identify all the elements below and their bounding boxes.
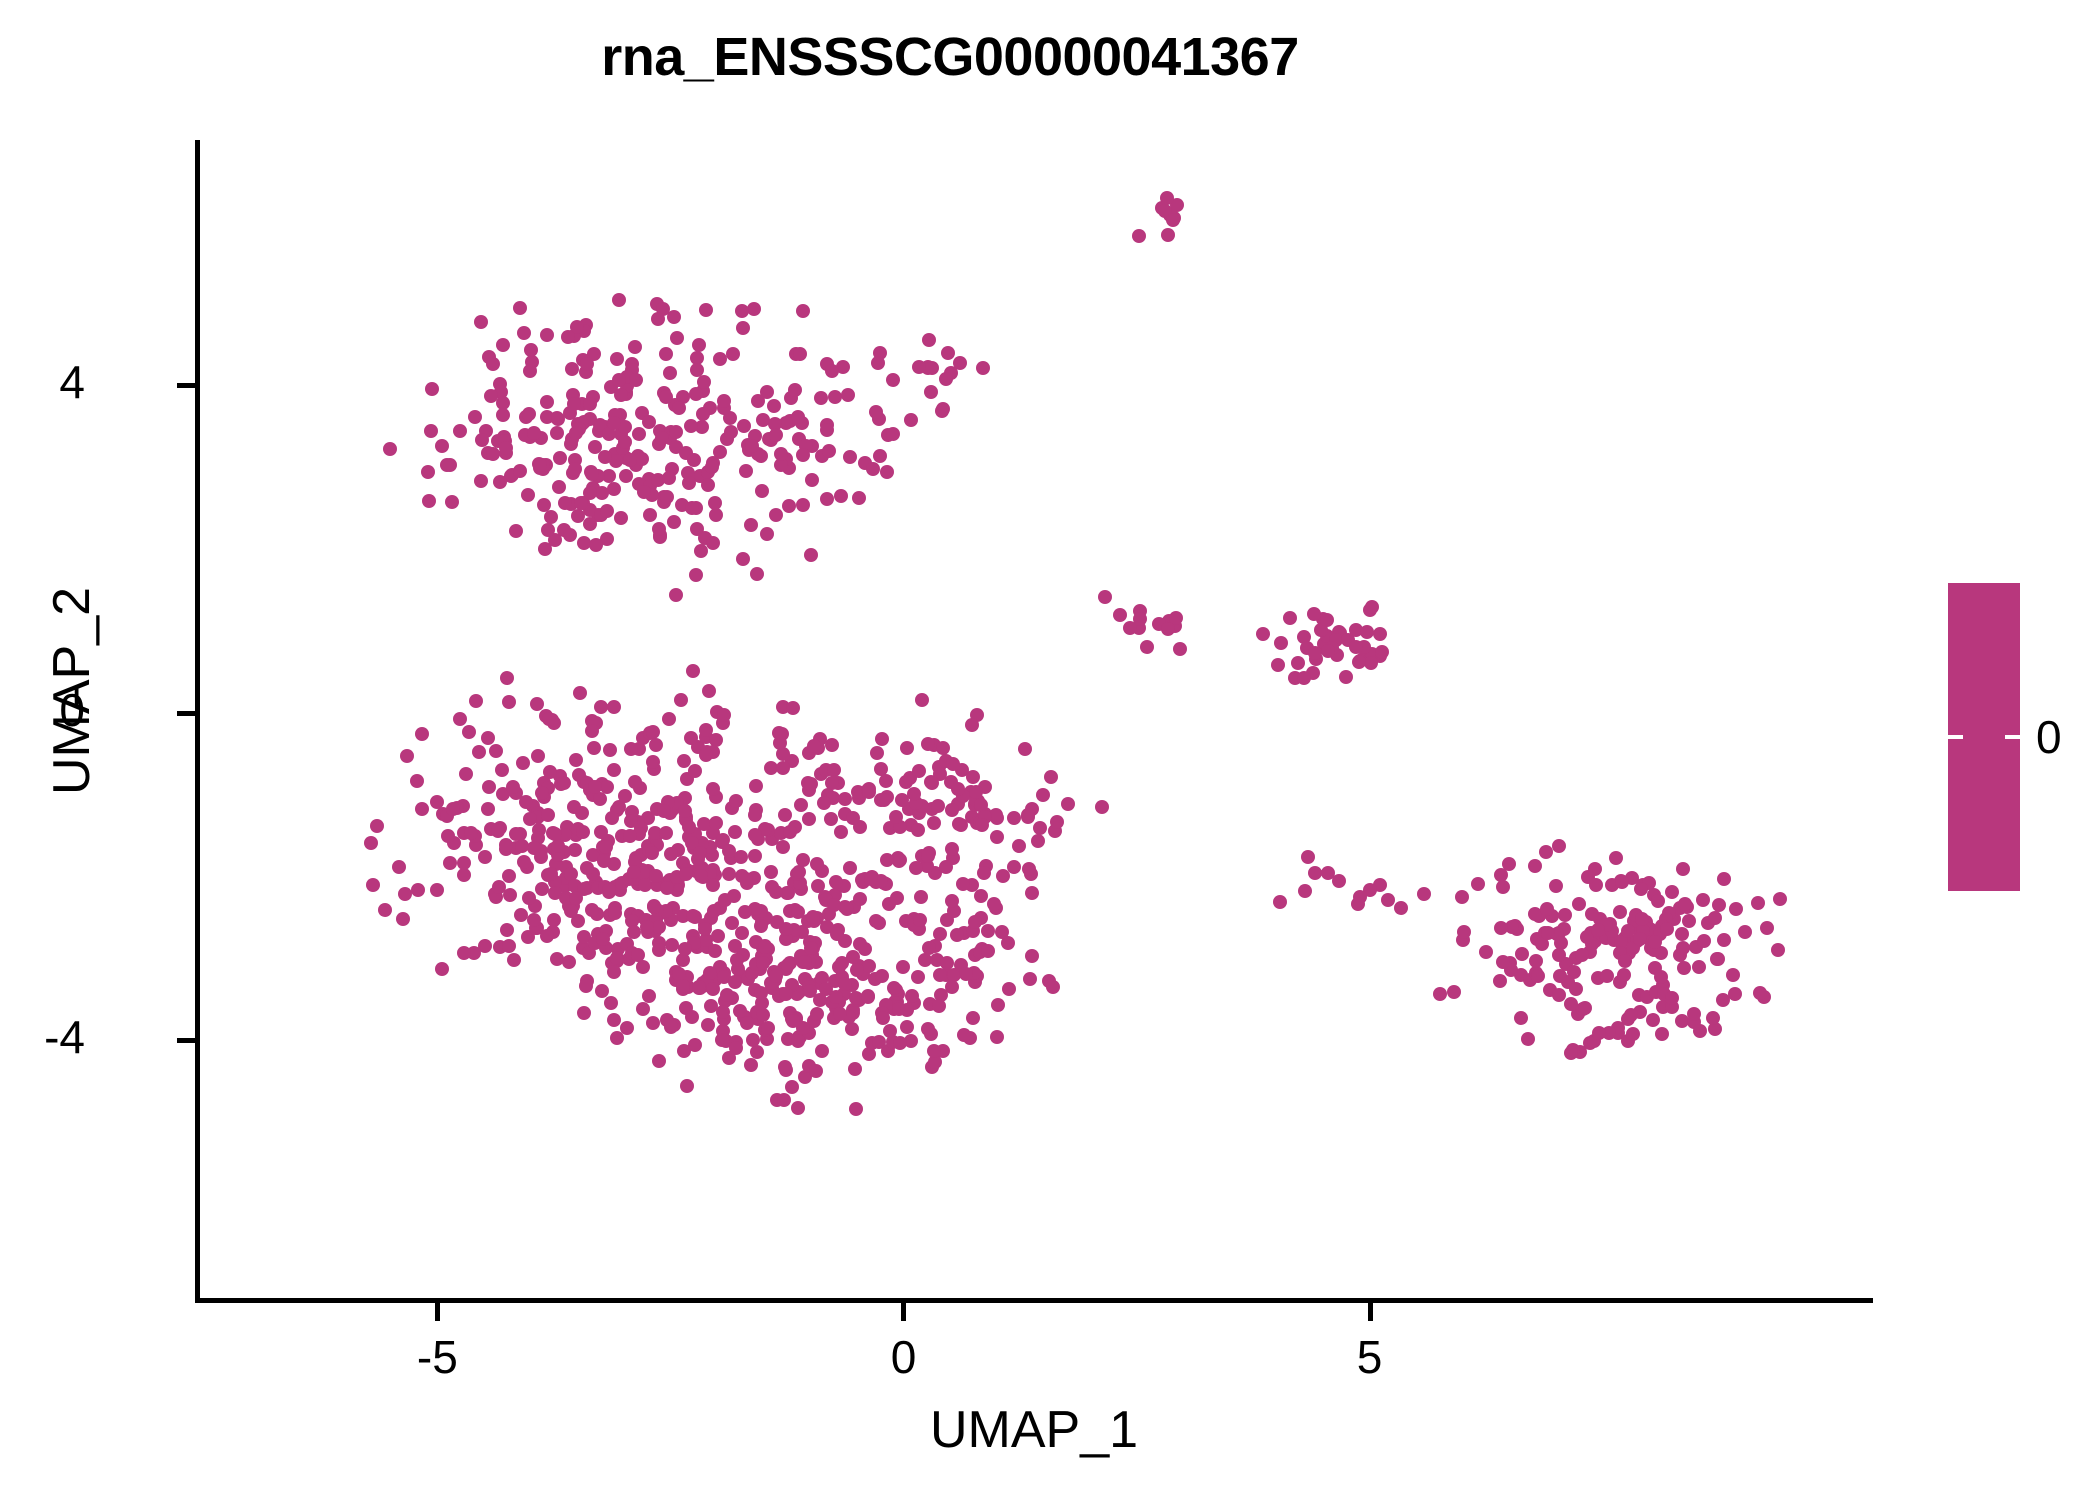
scatter-point bbox=[1291, 656, 1305, 670]
scatter-point bbox=[809, 1064, 823, 1078]
scatter-point bbox=[1479, 945, 1493, 959]
scatter-point bbox=[875, 732, 889, 746]
scatter-point bbox=[701, 478, 715, 492]
scatter-point bbox=[619, 469, 633, 483]
scatter-point bbox=[646, 755, 660, 769]
umap-feature-plot: rna_ENSSSCG00000041367 40-4 -505 UMAP_1 … bbox=[0, 0, 2100, 1500]
scatter-point bbox=[1381, 893, 1395, 907]
scatter-point bbox=[796, 853, 810, 867]
scatter-point bbox=[1036, 788, 1050, 802]
scatter-point bbox=[877, 793, 891, 807]
scatter-point bbox=[820, 492, 834, 506]
scatter-point bbox=[596, 932, 610, 946]
scatter-point bbox=[509, 524, 523, 538]
scatter-point bbox=[833, 1007, 847, 1021]
scatter-point bbox=[659, 826, 673, 840]
scatter-point bbox=[540, 929, 554, 943]
scatter-point bbox=[861, 989, 875, 1003]
scatter-point bbox=[469, 694, 483, 708]
scatter-point bbox=[1012, 839, 1026, 853]
scatter-point bbox=[936, 741, 950, 755]
scatter-point bbox=[733, 1004, 747, 1018]
scatter-point bbox=[684, 419, 698, 433]
scatter-point bbox=[924, 385, 938, 399]
scatter-point bbox=[1591, 923, 1605, 937]
scatter-point bbox=[709, 508, 723, 522]
scatter-point bbox=[1655, 1027, 1669, 1041]
scatter-point bbox=[966, 1011, 980, 1025]
scatter-point bbox=[1321, 644, 1335, 658]
scatter-point bbox=[583, 397, 597, 411]
scatter-point bbox=[628, 340, 642, 354]
scatter-point bbox=[879, 774, 893, 788]
scatter-point bbox=[1552, 988, 1566, 1002]
scatter-point bbox=[825, 776, 839, 790]
scatter-point bbox=[636, 1002, 650, 1016]
scatter-point bbox=[1433, 987, 1447, 1001]
scatter-point bbox=[496, 408, 510, 422]
scatter-point bbox=[706, 536, 720, 550]
scatter-point bbox=[1708, 911, 1722, 925]
scatter-point bbox=[610, 951, 624, 965]
scatter-point bbox=[513, 464, 527, 478]
scatter-point bbox=[788, 383, 802, 397]
scatter-point bbox=[1273, 895, 1287, 909]
scatter-point bbox=[646, 725, 660, 739]
scatter-point bbox=[1339, 670, 1353, 684]
scatter-point bbox=[600, 504, 614, 518]
scatter-point bbox=[577, 1006, 591, 1020]
scatter-point bbox=[1675, 927, 1689, 941]
scatter-point bbox=[866, 462, 880, 476]
scatter-point bbox=[1711, 952, 1725, 966]
scatter-point bbox=[1677, 961, 1691, 975]
scatter-point bbox=[446, 802, 460, 816]
scatter-point bbox=[828, 390, 842, 404]
scatter-point bbox=[685, 1010, 699, 1024]
scatter-point bbox=[1564, 997, 1578, 1011]
scatter-point bbox=[563, 528, 577, 542]
scatter-point bbox=[1140, 640, 1154, 654]
scatter-point bbox=[615, 876, 629, 890]
scatter-point bbox=[573, 686, 587, 700]
scatter-point bbox=[486, 357, 500, 371]
scatter-point bbox=[870, 746, 884, 760]
scatter-point bbox=[678, 942, 692, 956]
scatter-point bbox=[802, 812, 816, 826]
scatter-point bbox=[1496, 880, 1510, 894]
scatter-point bbox=[486, 447, 500, 461]
scatter-point bbox=[1581, 870, 1595, 884]
scatter-point bbox=[540, 395, 554, 409]
scatter-point bbox=[459, 767, 473, 781]
scatter-point bbox=[602, 883, 616, 897]
scatter-point bbox=[1417, 887, 1431, 901]
scatter-point bbox=[491, 824, 505, 838]
scatter-point bbox=[793, 347, 807, 361]
scatter-point bbox=[807, 739, 821, 753]
scatter-point bbox=[1360, 625, 1374, 639]
scatter-point bbox=[945, 980, 959, 994]
scatter-point bbox=[880, 465, 894, 479]
scatter-point bbox=[804, 548, 818, 562]
scatter-point bbox=[610, 352, 624, 366]
scatter-point bbox=[1552, 839, 1566, 853]
scatter-point bbox=[689, 568, 703, 582]
scatter-point bbox=[814, 391, 828, 405]
scatter-point bbox=[1665, 885, 1679, 899]
scatter-point bbox=[585, 724, 599, 738]
scatter-point bbox=[669, 588, 683, 602]
scatter-point bbox=[975, 818, 989, 832]
scatter-point bbox=[1166, 213, 1180, 227]
scatter-point bbox=[1256, 627, 1270, 641]
scatter-point bbox=[1161, 228, 1175, 242]
scatter-point bbox=[1033, 821, 1047, 835]
scatter-point bbox=[1693, 1024, 1707, 1038]
scatter-point bbox=[927, 816, 941, 830]
scatter-point bbox=[493, 475, 507, 489]
scatter-point bbox=[1665, 991, 1679, 1005]
scatter-point bbox=[935, 404, 949, 418]
scatter-point bbox=[810, 1007, 824, 1021]
scatter-point bbox=[603, 743, 617, 757]
scatter-point bbox=[1615, 875, 1629, 889]
scatter-point bbox=[909, 861, 923, 875]
scatter-point bbox=[1726, 968, 1740, 982]
scatter-point bbox=[805, 473, 819, 487]
scatter-point bbox=[557, 776, 571, 790]
scatter-point bbox=[502, 939, 516, 953]
colorbar-label-0: 0 bbox=[2036, 710, 2062, 764]
scatter-point bbox=[607, 1013, 621, 1027]
scatter-point bbox=[824, 812, 838, 826]
scatter-point bbox=[1541, 926, 1555, 940]
scatter-point bbox=[747, 302, 761, 316]
scatter-point bbox=[1682, 914, 1696, 928]
scatter-point bbox=[706, 878, 720, 892]
scatter-point bbox=[502, 695, 516, 709]
scatter-point bbox=[500, 923, 514, 937]
scatter-point bbox=[1569, 982, 1583, 996]
scatter-point bbox=[922, 333, 936, 347]
scatter-point bbox=[1558, 908, 1572, 922]
scatter-point bbox=[990, 1030, 1004, 1044]
scatter-point bbox=[843, 861, 857, 875]
scatter-point bbox=[667, 515, 681, 529]
scatter-point bbox=[952, 817, 966, 831]
scatter-point bbox=[1349, 640, 1363, 654]
scatter-point bbox=[597, 854, 611, 868]
page-title: rna_ENSSSCG00000041367 bbox=[0, 26, 1900, 88]
scatter-point bbox=[688, 1038, 702, 1052]
scatter-point bbox=[1751, 896, 1765, 910]
scatter-point bbox=[1760, 921, 1774, 935]
scatter-point bbox=[523, 364, 537, 378]
x-axis-label: UMAP_1 bbox=[195, 1400, 1873, 1460]
scatter-point bbox=[692, 980, 706, 994]
scatter-point bbox=[1308, 646, 1322, 660]
scatter-point bbox=[690, 363, 704, 377]
scatter-point bbox=[813, 993, 827, 1007]
scatter-point bbox=[1365, 600, 1379, 614]
scatter-point bbox=[1301, 850, 1315, 864]
scatter-point bbox=[569, 891, 583, 905]
scatter-point bbox=[1044, 770, 1058, 784]
scatter-point bbox=[890, 891, 904, 905]
scatter-point bbox=[1283, 611, 1297, 625]
scatter-point bbox=[1648, 935, 1662, 949]
scatter-point bbox=[659, 347, 673, 361]
scatter-point bbox=[739, 872, 753, 886]
scatter-point bbox=[1308, 866, 1322, 880]
scatter-point bbox=[820, 423, 834, 437]
scatter-point bbox=[608, 906, 622, 920]
scatter-point bbox=[829, 875, 843, 889]
scatter-point bbox=[786, 701, 800, 715]
scatter-point bbox=[791, 1034, 805, 1048]
scatter-point bbox=[893, 1036, 907, 1050]
x-tick-label: -5 bbox=[417, 1330, 458, 1384]
scatter-point bbox=[1502, 857, 1516, 871]
scatter-point bbox=[925, 361, 939, 375]
scatter-point bbox=[1394, 901, 1408, 915]
scatter-point bbox=[1717, 872, 1731, 886]
scatter-point bbox=[834, 825, 848, 839]
scatter-point bbox=[915, 693, 929, 707]
scatter-point bbox=[728, 939, 742, 953]
scatter-point bbox=[777, 1093, 791, 1107]
scatter-point bbox=[517, 326, 531, 340]
scatter-point bbox=[1676, 862, 1690, 876]
scatter-point bbox=[740, 1016, 754, 1030]
scatter-point bbox=[1564, 1046, 1578, 1060]
scatter-point bbox=[846, 811, 860, 825]
scatter-point bbox=[785, 1080, 799, 1094]
scatter-point bbox=[474, 474, 488, 488]
scatter-point bbox=[887, 981, 901, 995]
scatter-point bbox=[708, 496, 722, 510]
scatter-point bbox=[791, 1101, 805, 1115]
scatter-point bbox=[750, 567, 764, 581]
scatter-point bbox=[769, 508, 783, 522]
scatter-point bbox=[1031, 834, 1045, 848]
scatter-point bbox=[1514, 1011, 1528, 1025]
scatter-point bbox=[1578, 1001, 1592, 1015]
scatter-point bbox=[682, 820, 696, 834]
scatter-point bbox=[699, 748, 713, 762]
scatter-point bbox=[1297, 671, 1311, 685]
scatter-point bbox=[421, 465, 435, 479]
scatter-point bbox=[1173, 642, 1187, 656]
scatter-point bbox=[1531, 969, 1545, 983]
scatter-point bbox=[927, 1044, 941, 1058]
scatter-point bbox=[886, 427, 900, 441]
scatter-point bbox=[782, 499, 796, 513]
scatter-point bbox=[956, 877, 970, 891]
scatter-point bbox=[1771, 943, 1785, 957]
scatter-point bbox=[689, 387, 703, 401]
scatter-point bbox=[618, 435, 632, 449]
scatter-point bbox=[453, 712, 467, 726]
scatter-points-layer bbox=[195, 140, 1873, 1302]
scatter-point bbox=[748, 849, 762, 863]
scatter-point bbox=[445, 495, 459, 509]
scatter-point bbox=[729, 794, 743, 808]
scatter-point bbox=[587, 741, 601, 755]
scatter-point bbox=[707, 904, 721, 918]
scatter-point bbox=[1447, 985, 1461, 999]
scatter-point bbox=[540, 328, 554, 342]
scatter-point bbox=[749, 779, 763, 793]
scatter-point bbox=[623, 453, 637, 467]
scatter-point bbox=[796, 448, 810, 462]
scatter-point bbox=[462, 725, 476, 739]
scatter-point bbox=[767, 399, 781, 413]
scatter-point bbox=[464, 826, 478, 840]
scatter-point bbox=[657, 804, 671, 818]
scatter-point bbox=[1046, 980, 1060, 994]
scatter-point bbox=[869, 405, 883, 419]
scatter-point bbox=[484, 389, 498, 403]
scatter-point bbox=[647, 900, 661, 914]
scatter-point bbox=[507, 953, 521, 967]
scatter-point bbox=[541, 523, 555, 537]
scatter-point bbox=[481, 802, 495, 816]
scatter-point bbox=[593, 792, 607, 806]
y-tick-mark bbox=[177, 1038, 195, 1043]
scatter-point bbox=[974, 889, 988, 903]
scatter-point bbox=[1023, 972, 1037, 986]
scatter-point bbox=[858, 942, 872, 956]
scatter-point bbox=[966, 770, 980, 784]
scatter-point bbox=[643, 508, 657, 522]
scatter-point bbox=[796, 304, 810, 318]
scatter-point bbox=[770, 915, 784, 929]
scatter-point bbox=[600, 780, 614, 794]
x-tick-mark bbox=[901, 1303, 906, 1321]
scatter-point bbox=[1539, 845, 1553, 859]
y-axis-label: UMAP_2 bbox=[42, 391, 102, 991]
scatter-point bbox=[804, 777, 818, 791]
scatter-point bbox=[726, 347, 740, 361]
scatter-point bbox=[424, 424, 438, 438]
scatter-point bbox=[914, 890, 928, 904]
scatter-point bbox=[1298, 884, 1312, 898]
scatter-point bbox=[1617, 968, 1631, 982]
scatter-point bbox=[1716, 993, 1730, 1007]
scatter-point bbox=[1549, 879, 1563, 893]
scatter-point bbox=[686, 664, 700, 678]
x-tick-mark bbox=[435, 1303, 440, 1321]
scatter-point bbox=[1332, 874, 1346, 888]
scatter-point bbox=[422, 494, 436, 508]
scatter-point bbox=[1375, 645, 1389, 659]
scatter-point bbox=[676, 979, 690, 993]
scatter-point bbox=[562, 955, 576, 969]
scatter-point bbox=[977, 866, 991, 880]
scatter-point bbox=[1773, 892, 1787, 906]
scatter-point bbox=[990, 830, 1004, 844]
scatter-point bbox=[692, 338, 706, 352]
scatter-point bbox=[396, 912, 410, 926]
scatter-point bbox=[550, 426, 564, 440]
scatter-point bbox=[987, 897, 1001, 911]
scatter-point bbox=[730, 953, 744, 967]
scatter-point bbox=[779, 987, 793, 1001]
scatter-point bbox=[886, 373, 900, 387]
scatter-point bbox=[646, 1016, 660, 1030]
scatter-point bbox=[629, 373, 643, 387]
scatter-point bbox=[474, 315, 488, 329]
scatter-point bbox=[911, 970, 925, 984]
scatter-point bbox=[1021, 808, 1035, 822]
scatter-point bbox=[604, 996, 618, 1010]
scatter-point bbox=[815, 1044, 829, 1058]
colorbar-tick-left bbox=[1948, 735, 1963, 739]
scatter-point bbox=[435, 439, 449, 453]
scatter-point bbox=[876, 1011, 890, 1025]
scatter-point bbox=[585, 903, 599, 917]
colorbar-tick-right bbox=[2005, 735, 2020, 739]
scatter-point bbox=[649, 738, 663, 752]
scatter-point bbox=[945, 803, 959, 817]
scatter-point bbox=[686, 909, 700, 923]
scatter-point bbox=[738, 905, 752, 919]
scatter-point bbox=[561, 330, 575, 344]
scatter-point bbox=[838, 792, 852, 806]
scatter-point bbox=[1626, 1027, 1640, 1041]
scatter-point bbox=[366, 878, 380, 892]
scatter-point bbox=[457, 946, 471, 960]
scatter-point bbox=[1098, 590, 1112, 604]
scatter-point bbox=[716, 1005, 730, 1019]
scatter-point bbox=[996, 869, 1010, 883]
scatter-point bbox=[652, 920, 666, 934]
scatter-point bbox=[711, 929, 725, 943]
scatter-point bbox=[632, 427, 646, 441]
scatter-point bbox=[735, 926, 749, 940]
scatter-point bbox=[516, 756, 530, 770]
scatter-point bbox=[624, 814, 638, 828]
scatter-point bbox=[1717, 933, 1731, 947]
scatter-point bbox=[468, 410, 482, 424]
scatter-point bbox=[430, 883, 444, 897]
scatter-point bbox=[729, 1041, 743, 1055]
scatter-point bbox=[1696, 893, 1710, 907]
scatter-point bbox=[1022, 862, 1036, 876]
scatter-point bbox=[383, 442, 397, 456]
scatter-point bbox=[939, 372, 953, 386]
scatter-point bbox=[475, 433, 489, 447]
scatter-point bbox=[864, 872, 878, 886]
scatter-point bbox=[774, 447, 788, 461]
scatter-point bbox=[769, 428, 783, 442]
scatter-point bbox=[751, 394, 765, 408]
legend-colorbar[interactable]: 0 bbox=[1948, 583, 2098, 913]
scatter-point bbox=[522, 407, 536, 421]
scatter-point bbox=[415, 727, 429, 741]
scatter-point bbox=[804, 941, 818, 955]
scatter-point bbox=[848, 1062, 862, 1076]
scatter-point bbox=[514, 908, 528, 922]
scatter-point bbox=[640, 920, 654, 934]
scatter-point bbox=[822, 444, 836, 458]
scatter-point bbox=[1133, 612, 1147, 626]
scatter-point bbox=[607, 700, 621, 714]
scatter-point bbox=[1493, 974, 1507, 988]
scatter-point bbox=[680, 1079, 694, 1093]
